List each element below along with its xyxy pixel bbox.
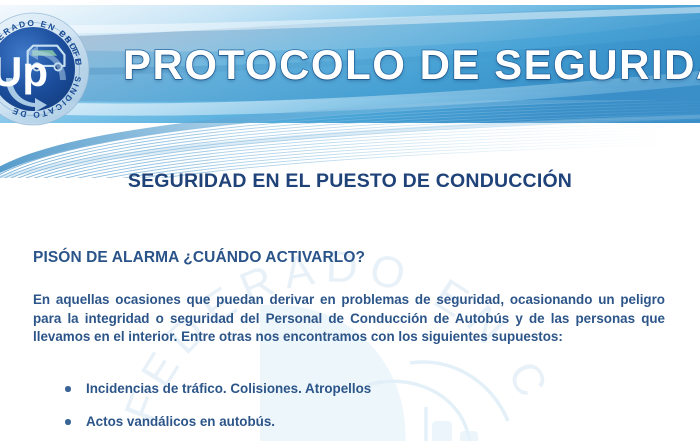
organization-logo: FEDERADO EN CSIT UNIÓN SINDICATO DE PROF… xyxy=(0,8,94,130)
list-item: Incidencias de tráfico. Colisiones. Atro… xyxy=(63,381,663,397)
supuestos-list: Incidencias de tráfico. Colisiones. Atro… xyxy=(63,381,663,441)
section-title: PISÓN DE ALARMA ¿CUÁNDO ACTIVARLO? xyxy=(33,249,365,267)
banner-title: PROTOCOLO DE SEGURIDAD xyxy=(123,41,700,89)
list-item: Actos vandálicos en autobús. xyxy=(63,414,663,430)
csit-seal-icon: FEDERADO EN CSIT UNIÓN SINDICATO DE PROF… xyxy=(0,8,94,130)
intro-paragraph: En aquellas ocasiones que puedan derivar… xyxy=(33,291,665,347)
page-title: SEGURIDAD EN EL PUESTO DE CONDUCCIÓN xyxy=(0,170,700,193)
document-page: PROTOCOLO DE SEGURIDAD xyxy=(0,0,700,441)
logo-monogram: Up xyxy=(0,48,48,95)
